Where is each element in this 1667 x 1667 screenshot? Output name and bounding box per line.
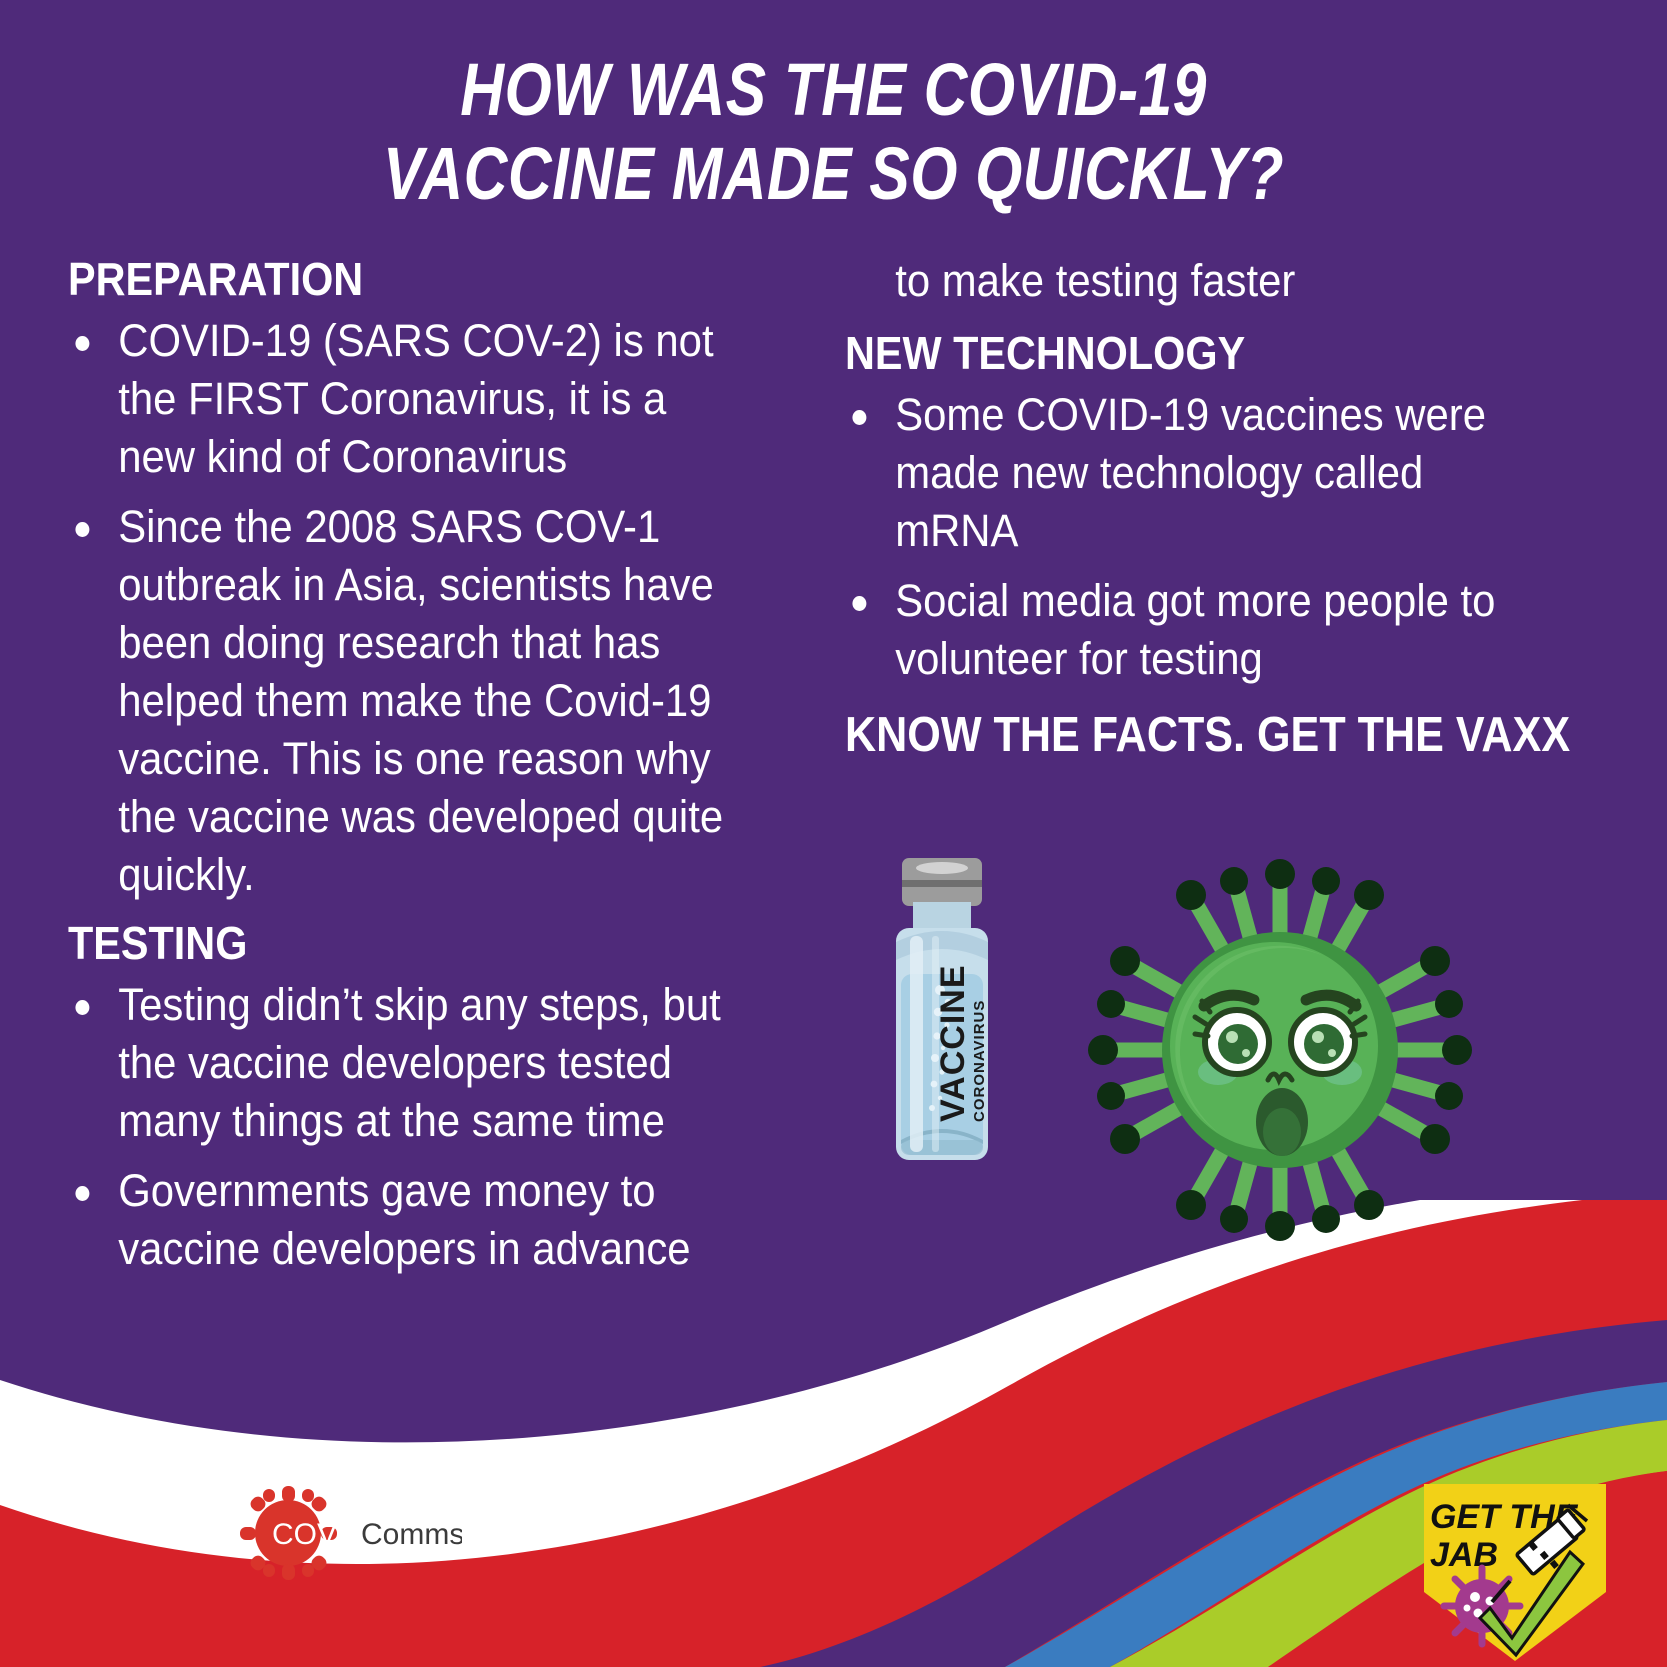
continuation-text: to make testing faster bbox=[845, 252, 1552, 310]
section-heading-new-technology: NEW TECHNOLOGY bbox=[845, 326, 1529, 380]
preparation-bullet-list: COVID-19 (SARS COV-2) is not the FIRST C… bbox=[68, 312, 798, 904]
list-item: COVID-19 (SARS COV-2) is not the FIRST C… bbox=[68, 312, 747, 486]
list-item: Since the 2008 SARS COV-1 outbreak in As… bbox=[68, 498, 747, 904]
section-heading-testing: TESTING bbox=[68, 916, 725, 970]
covidcomms-comms-text: Comms bbox=[361, 1518, 462, 1551]
vaccine-vial-icon: VACCINE CORONAVIRUS bbox=[896, 858, 988, 1160]
list-item: Social media got more people to voluntee… bbox=[845, 572, 1552, 688]
badge-line-2: JAB bbox=[1430, 1536, 1498, 1574]
list-item: Testing didn’t skip any steps, but the v… bbox=[68, 976, 747, 1150]
infographic-poster: HOW WAS THE COVID-19 VACCINE MADE SO QUI… bbox=[0, 0, 1667, 1667]
vaccine-and-virus-illustration: VACCINE CORONAVIRUS bbox=[880, 850, 1580, 1290]
section-heading-preparation: PREPARATION bbox=[68, 252, 725, 306]
covidcomms-covid-text: COVID bbox=[272, 1518, 367, 1551]
vial-label-sub: CORONAVIRUS bbox=[971, 1000, 988, 1122]
title-line-2: VACCINE MADE SO QUICKLY? bbox=[150, 132, 1517, 216]
call-to-action-heading: KNOW THE FACTS. GET THE VAXX bbox=[845, 706, 1514, 764]
new-technology-bullet-list: Some COVID-19 vaccines were made new tec… bbox=[845, 386, 1605, 688]
title-line-1: HOW WAS THE COVID-19 bbox=[150, 48, 1517, 132]
left-column: PREPARATION COVID-19 (SARS COV-2) is not… bbox=[68, 252, 798, 1290]
covidcomms-logo: COVID Comms bbox=[232, 1478, 462, 1588]
testing-bullet-list: Testing didn’t skip any steps, but the v… bbox=[68, 976, 798, 1278]
right-column: to make testing faster NEW TECHNOLOGY So… bbox=[845, 252, 1605, 764]
list-item: Some COVID-19 vaccines were made new tec… bbox=[845, 386, 1552, 560]
vial-label-main: VACCINE bbox=[934, 965, 972, 1123]
page-title: HOW WAS THE COVID-19 VACCINE MADE SO QUI… bbox=[0, 48, 1667, 216]
virus-character-icon bbox=[1088, 859, 1472, 1241]
list-item: Governments gave money to vaccine develo… bbox=[68, 1162, 747, 1278]
get-the-jab-badge[interactable]: GET THE JAB bbox=[1420, 1480, 1610, 1665]
